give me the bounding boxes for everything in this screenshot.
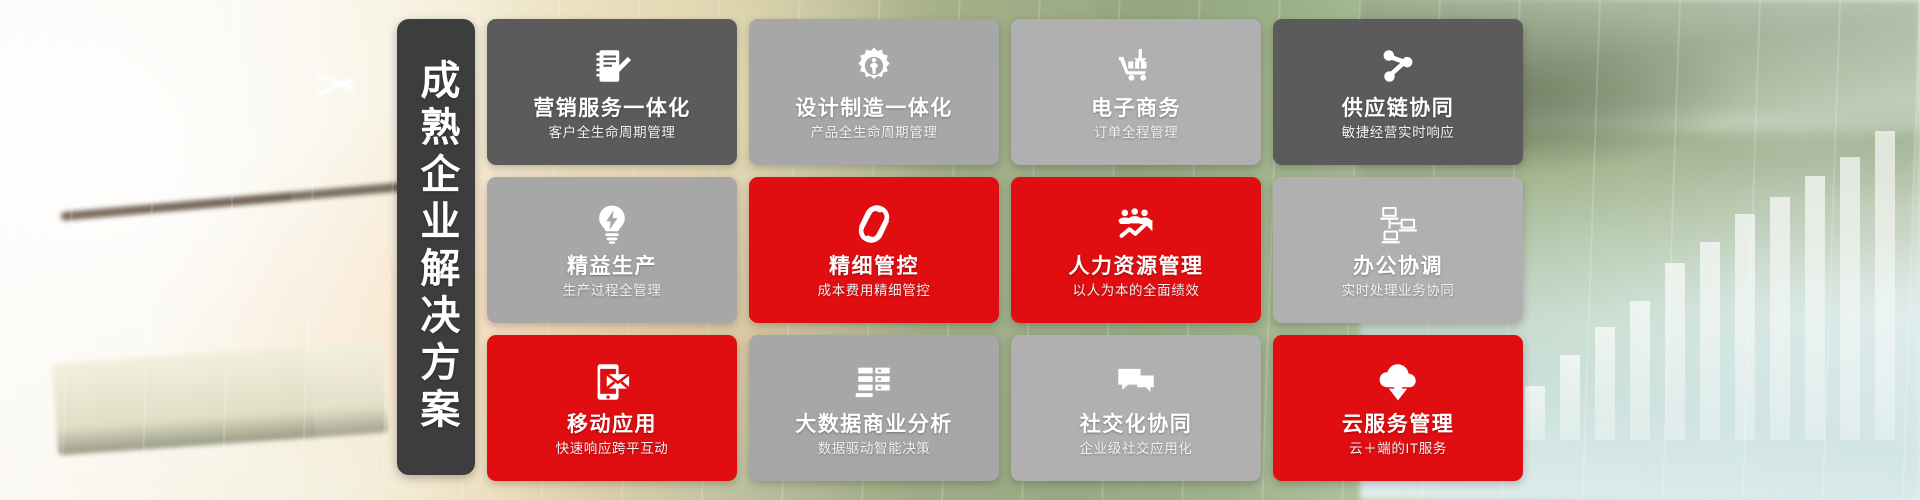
tile-title: 设计制造一体化 [795,97,953,120]
tile-title: 人力资源管理 [1069,255,1204,278]
banner-content: 成熟企业解决方案 营销服务一体化客户全生命周期管理设计制造一体化产品全生命周期管… [0,0,1920,500]
tile-title: 办公协调 [1353,255,1443,278]
tile-title: 精益生产 [567,255,657,278]
tile-title: 精细管控 [829,255,919,278]
tile-title: 供应链协同 [1342,97,1455,120]
solution-banner: 成熟企业解决方案 营销服务一体化客户全生命周期管理设计制造一体化产品全生命周期管… [0,0,1920,500]
tile-subtitle: 快速响应跨平互动 [556,442,669,457]
vertical-title-panel: 成熟企业解决方案 [397,19,475,475]
solution-stage: 成熟企业解决方案 营销服务一体化客户全生命周期管理设计制造一体化产品全生命周期管… [397,19,1523,481]
tile-marketing-service-integration[interactable]: 营销服务一体化客户全生命周期管理 [487,19,737,165]
mobile-message-icon [590,360,634,404]
tile-ecommerce[interactable]: 电子商务订单全程管理 [1011,19,1261,165]
tile-social-collaboration[interactable]: 社交化协同企业级社交应用化 [1011,335,1261,481]
paperclip-link-icon [852,202,896,246]
tile-subtitle: 实时处理业务协同 [1342,284,1455,299]
tile-big-data-business-analytics[interactable]: 大数据商业分析数据驱动智能决策 [749,335,999,481]
tile-subtitle: 产品全生命周期管理 [811,126,938,141]
tile-title: 社交化协同 [1080,413,1193,436]
networked-computers-icon [1376,202,1420,246]
people-growth-arrow-icon [1114,202,1158,246]
tile-design-manufacturing-integration[interactable]: 设计制造一体化产品全生命周期管理 [749,19,999,165]
tile-title: 电子商务 [1091,97,1181,120]
solution-tile-grid: 营销服务一体化客户全生命周期管理设计制造一体化产品全生命周期管理电子商务订单全程… [487,19,1523,481]
chat-bubbles-icon [1114,360,1158,404]
shopping-cart-download-icon [1114,44,1158,88]
tile-supply-chain-collaboration[interactable]: 供应链协同敏捷经营实时响应 [1273,19,1523,165]
clipboard-pencil-icon [590,44,634,88]
tile-subtitle: 敏捷经营实时响应 [1342,126,1455,141]
tile-subtitle: 成本费用精细管控 [818,284,931,299]
tile-subtitle: 数据驱动智能决策 [818,442,931,457]
page-title: 成熟企业解决方案 [414,59,459,435]
tile-human-resource-management[interactable]: 人力资源管理以人为本的全面绩效 [1011,177,1261,323]
share-nodes-icon [1376,44,1420,88]
tile-subtitle: 企业级社交应用化 [1080,442,1193,457]
tile-subtitle: 以人为本的全面绩效 [1073,284,1200,299]
tile-subtitle: 云＋端的IT服务 [1349,442,1447,457]
tile-cloud-service-management[interactable]: 云服务管理云＋端的IT服务 [1273,335,1523,481]
tile-subtitle: 客户全生命周期管理 [549,126,676,141]
lightbulb-bolt-icon [590,202,634,246]
tile-mobile-application[interactable]: 移动应用快速响应跨平互动 [487,335,737,481]
server-rack-icon [852,360,896,404]
tile-subtitle: 生产过程全管理 [563,284,662,299]
tile-title: 移动应用 [567,413,657,436]
tile-office-coordination[interactable]: 办公协调实时处理业务协同 [1273,177,1523,323]
tile-subtitle: 订单全程管理 [1094,126,1179,141]
tile-lean-production[interactable]: 精益生产生产过程全管理 [487,177,737,323]
tile-title: 大数据商业分析 [795,413,953,436]
tile-fine-grained-control[interactable]: 精细管控成本费用精细管控 [749,177,999,323]
cloud-download-icon [1376,360,1420,404]
tile-title: 营销服务一体化 [533,97,691,120]
tile-title: 云服务管理 [1342,413,1455,436]
gear-person-icon [852,44,896,88]
